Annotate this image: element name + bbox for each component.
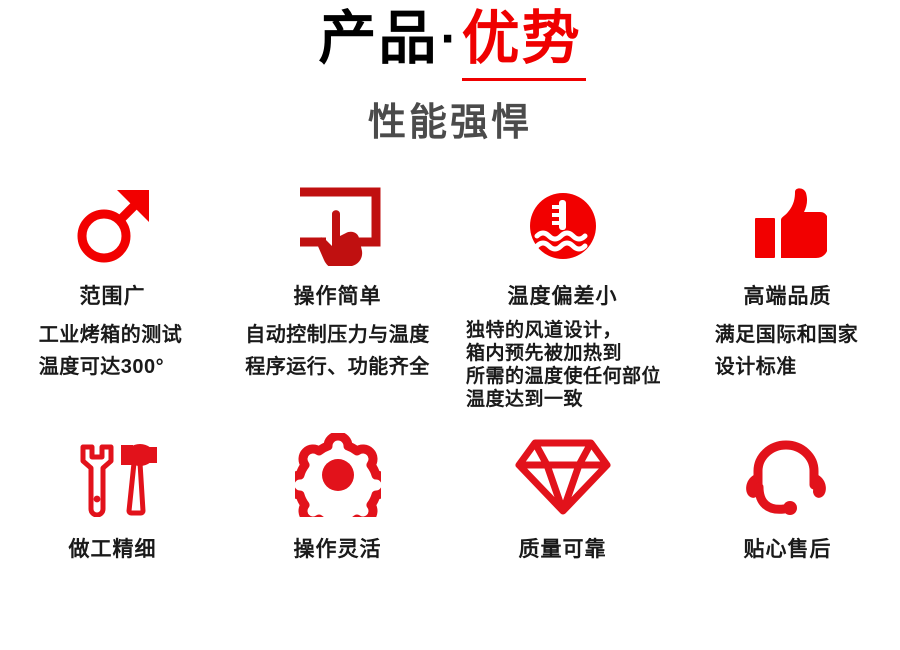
feature-item-range: 范围广 工业烤箱的测试 温度可达300°	[0, 180, 225, 412]
feature-title: 做工精细	[69, 533, 157, 563]
feature-item-easy-operation: 操作简单 自动控制压力与温度 程序运行、功能齐全	[225, 180, 450, 412]
page-subtitle: 性能强悍	[0, 91, 900, 146]
page-title-primary: 产品	[318, 6, 438, 71]
feature-description-line: 温度可达300°	[39, 351, 183, 383]
feature-description: 自动控制压力与温度 程序运行、功能齐全	[245, 319, 430, 384]
feature-description-line: 程序运行、功能齐全	[245, 351, 430, 383]
page-title-accent-text: 优势	[462, 6, 582, 71]
feature-title: 贴心售后	[744, 533, 832, 563]
feature-item-fine-workmanship: 做工精细	[0, 429, 225, 563]
feature-title: 范围广	[80, 280, 146, 310]
temperature-gauge-icon	[523, 180, 603, 266]
feature-row-top: 范围广 工业烤箱的测试 温度可达300° 操作简单 自动控制压力与温度 程序运行…	[0, 180, 900, 412]
feature-item-premium-quality: 高端品质 满足国际和国家 设计标准	[675, 180, 900, 412]
feature-description-line: 箱内预先被加热到	[466, 342, 661, 365]
feature-title: 温度偏差小	[508, 280, 618, 310]
feature-title: 高端品质	[744, 280, 832, 310]
page-title: 产品·优势	[318, 6, 581, 79]
feature-title: 操作灵活	[294, 533, 382, 563]
mars-symbol-icon	[71, 180, 155, 266]
page-header: 产品·优势 性能强悍	[0, 0, 900, 146]
page-title-separator-dot: ·	[438, 10, 461, 68]
gear-icon	[295, 429, 381, 517]
feature-item-flexible-operation: 操作灵活	[225, 429, 450, 563]
feature-title: 操作简单	[294, 280, 382, 310]
feature-title: 质量可靠	[519, 533, 607, 563]
page-title-accent: 优势	[462, 6, 582, 79]
page-title-underline	[462, 78, 586, 81]
feature-description-line: 设计标准	[715, 351, 859, 383]
feature-item-temperature-deviation: 温度偏差小 独特的风道设计， 箱内预先被加热到 所需的温度使任何部位 温度达到一…	[450, 180, 675, 412]
diamond-icon	[515, 429, 611, 517]
feature-description: 独特的风道设计， 箱内预先被加热到 所需的温度使任何部位 温度达到一致	[466, 319, 661, 412]
feature-item-after-sales-support: 贴心售后	[675, 429, 900, 563]
touchscreen-tap-icon	[288, 180, 388, 266]
wrench-hammer-icon	[67, 429, 159, 517]
feature-description: 满足国际和国家 设计标准	[715, 319, 859, 384]
feature-row-bottom: 做工精细 操作灵活 质量可靠	[0, 429, 900, 563]
feature-item-reliable-quality: 质量可靠	[450, 429, 675, 563]
feature-description-line: 温度达到一致	[466, 388, 661, 411]
feature-description-line: 所需的温度使任何部位	[466, 365, 661, 388]
headset-support-icon	[742, 429, 834, 517]
feature-description-line: 独特的风道设计，	[466, 319, 661, 342]
feature-description-line: 工业烤箱的测试	[39, 319, 183, 351]
feature-description-line: 满足国际和国家	[715, 319, 859, 351]
feature-description: 工业烤箱的测试 温度可达300°	[39, 319, 183, 384]
thumbs-up-icon	[749, 180, 827, 266]
feature-description-line: 自动控制压力与温度	[245, 319, 430, 351]
